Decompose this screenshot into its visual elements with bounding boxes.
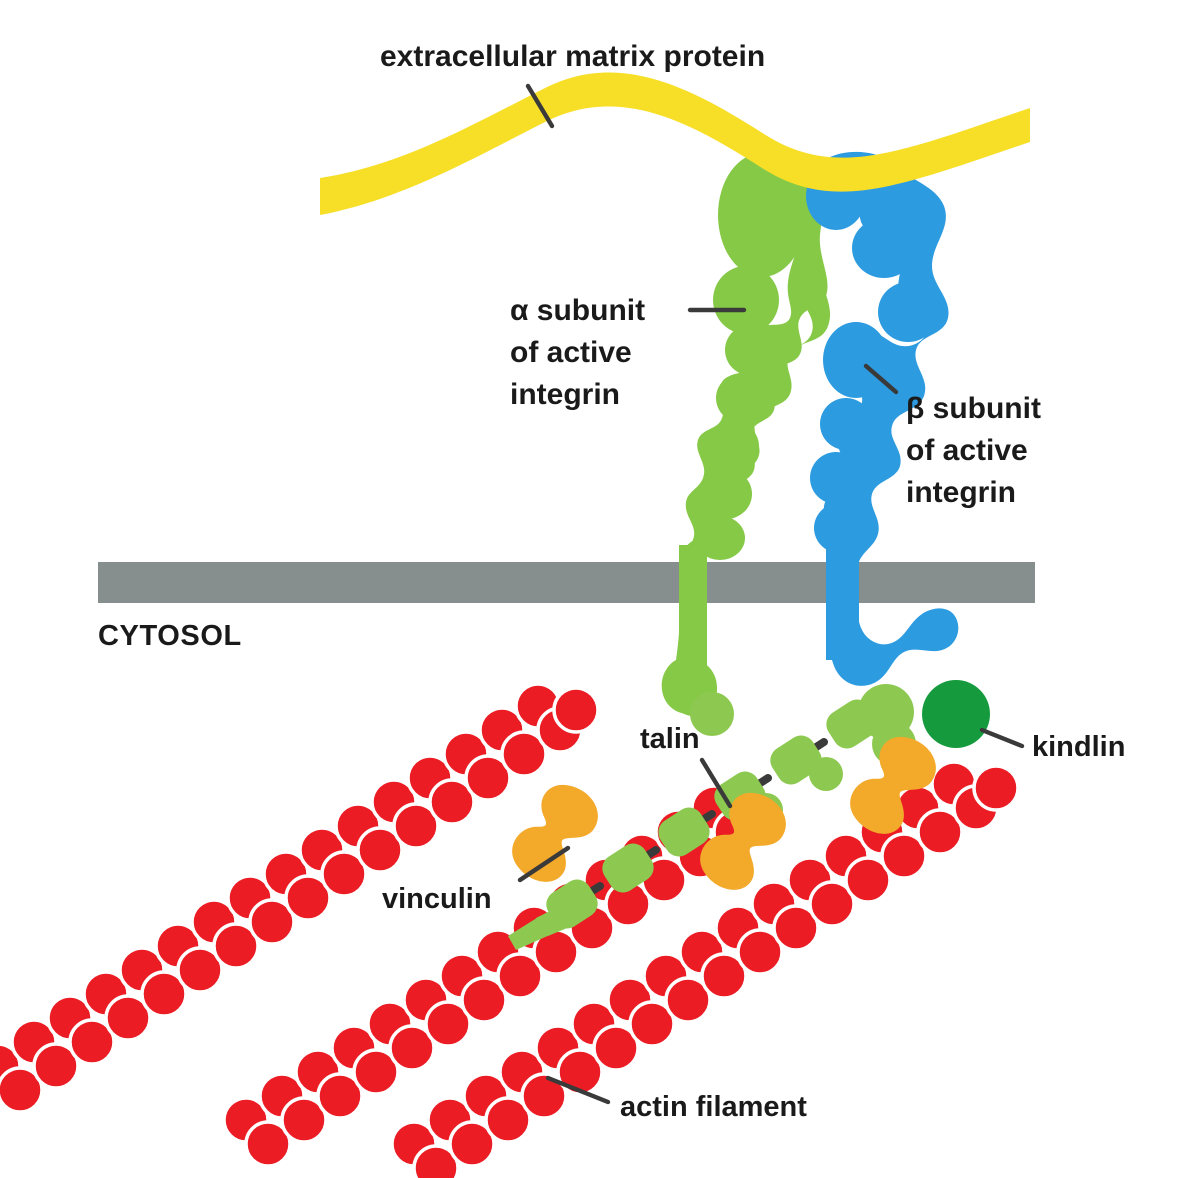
label-alpha-subunit-line1: α subunit	[510, 294, 645, 327]
integrin-focal-adhesion-diagram: extracellular matrix protein α subunit o…	[0, 0, 1186, 1178]
label-alpha-subunit-line3: integrin	[510, 378, 620, 411]
label-talin: talin	[640, 723, 700, 755]
label-kindlin: kindlin	[1032, 731, 1125, 763]
label-vinculin: vinculin	[382, 883, 492, 915]
kindlin-shape	[922, 680, 990, 748]
plasma-membrane-bar	[98, 562, 1035, 603]
actin-filament-group	[0, 684, 1018, 1178]
label-ecm-protein: extracellular matrix protein	[380, 40, 765, 73]
label-alpha-subunit-line2: of active	[510, 336, 632, 369]
label-beta-subunit-line3: integrin	[906, 476, 1016, 509]
label-beta-subunit: β subunit of active integrin	[906, 392, 1041, 509]
label-alpha-subunit: α subunit of active integrin	[510, 294, 645, 411]
alpha-subunit-shape	[662, 152, 830, 716]
leader-kindlin	[982, 730, 1022, 746]
label-beta-subunit-line2: of active	[906, 434, 1028, 467]
diagram-canvas: extracellular matrix protein α subunit o…	[0, 0, 1186, 1178]
label-actin-filament: actin filament	[620, 1091, 807, 1123]
actin-filament	[0, 684, 598, 1112]
label-cytosol: CYTOSOL	[98, 620, 242, 652]
label-beta-subunit-line1: β subunit	[906, 392, 1041, 425]
